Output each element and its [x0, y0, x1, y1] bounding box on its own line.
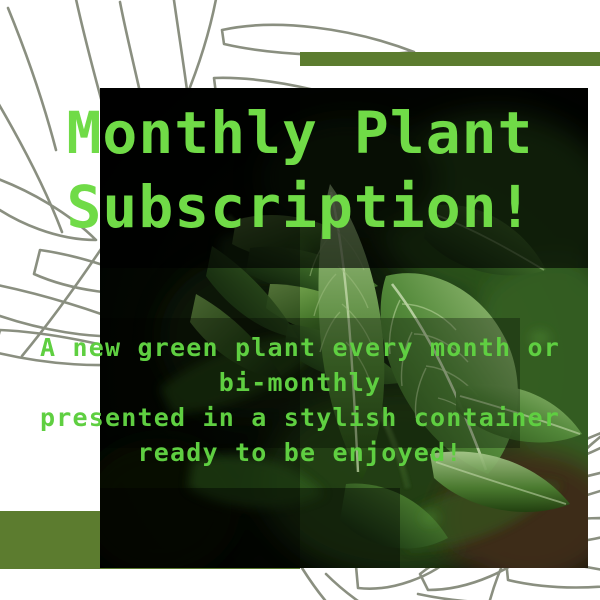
body-copy: A new green plant every month or bi-mont… [0, 330, 600, 470]
olive-accent-bar-top [300, 52, 600, 66]
poster-canvas: Monthly Plant Subscription! A new green … [0, 0, 600, 600]
headline-line-1: Monthly Plant [0, 96, 600, 170]
body-copy-line-3: presented in a stylish container [0, 400, 600, 435]
headline: Monthly Plant Subscription! [0, 96, 600, 244]
headline-line-2: Subscription! [0, 170, 600, 244]
body-copy-line-1: A new green plant every month or [0, 330, 600, 365]
body-copy-line-4: ready to be enjoyed! [0, 435, 600, 470]
body-copy-line-2: bi-monthly [0, 365, 600, 400]
